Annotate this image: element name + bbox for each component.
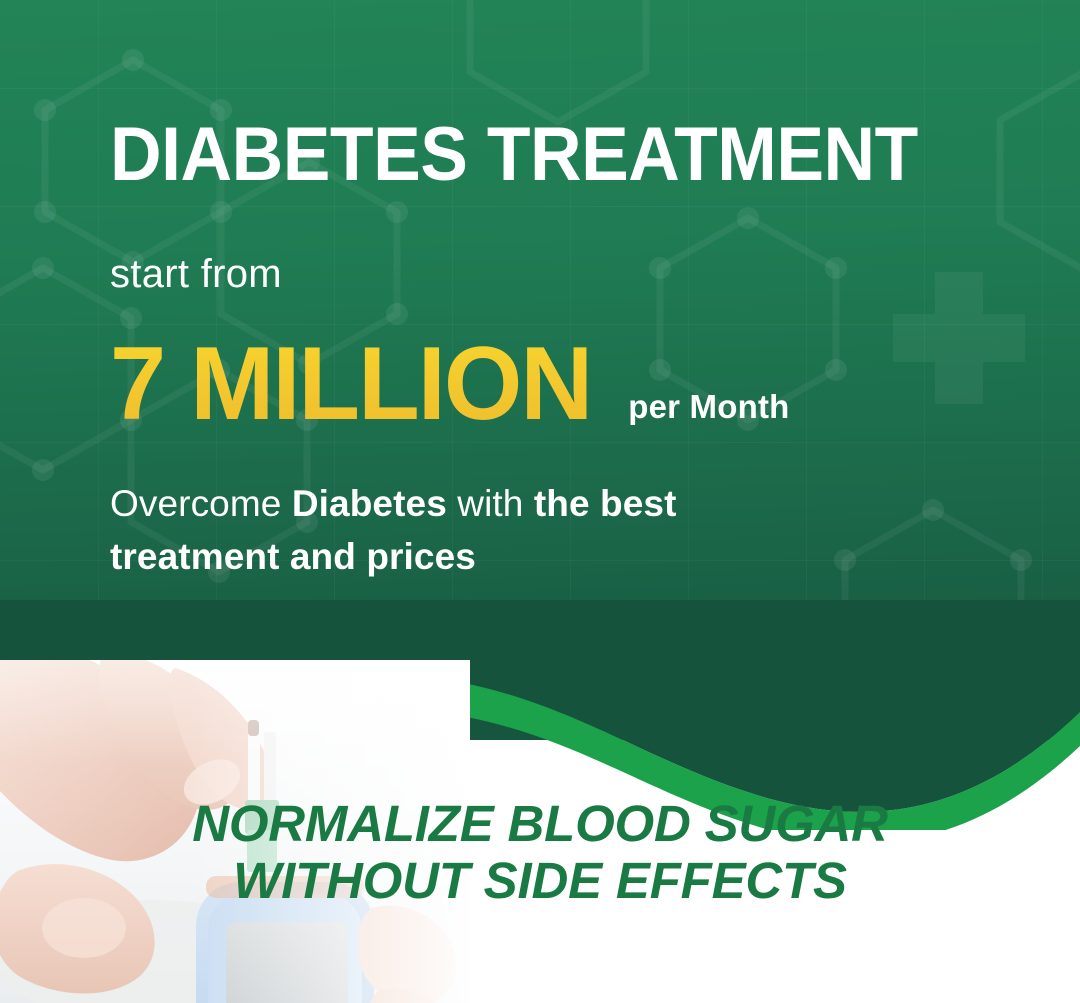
price-unit: per Month	[628, 390, 789, 436]
subheading-part-2: Diabetes	[292, 483, 447, 524]
tagline-line-2: WITHOUT SIDE EFFECTS	[0, 852, 1080, 909]
subheading-part-5: treatment and prices	[110, 536, 476, 577]
price-amount: 7 MILLION	[110, 332, 591, 436]
tagline-line-1: NORMALIZE BLOOD SUGAR	[192, 795, 888, 852]
price-row: 7 MILLION per Month	[110, 332, 790, 436]
subheading-part-4: the best	[534, 483, 677, 524]
subheading-part-1: Overcome	[110, 483, 292, 524]
start-from-label: start from	[110, 254, 282, 294]
subheading: Overcome Diabetes with the besttreatment…	[110, 478, 1010, 584]
subheading-part-3: with	[447, 483, 534, 524]
tagline: NORMALIZE BLOOD SUGAR WITHOUT SIDE EFFEC…	[0, 795, 1080, 909]
medical-cross-icon	[893, 272, 1025, 404]
diabetes-treatment-poster: DIABETES TREATMENT start from 7 MILLION …	[0, 0, 1080, 1003]
page-title: DIABETES TREATMENT	[110, 117, 918, 193]
